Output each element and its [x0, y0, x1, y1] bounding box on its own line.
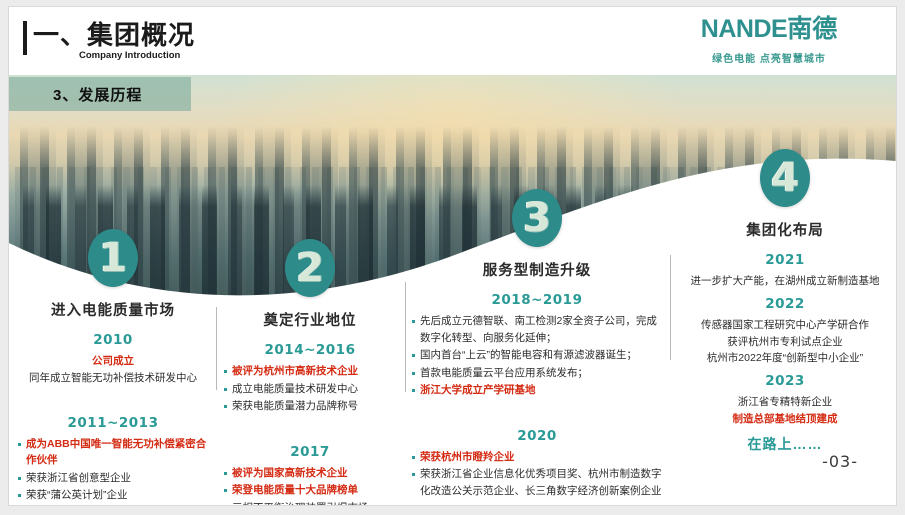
year-label: 2023: [674, 373, 896, 389]
year-label: 2010: [15, 332, 211, 348]
page-number: -03-: [822, 452, 858, 471]
list-item: 被评为国家高新技术企业: [223, 465, 397, 482]
plain-line: 传感器国家工程研究中心产学研合作: [674, 317, 896, 334]
timeline-column-1: 1 进入电能质量市场 2010 公司成立 同年成立智能无功补偿技术研发中心 20…: [15, 229, 211, 505]
year-label: 2021: [674, 252, 896, 268]
plain-line: 获评杭州市专利试点企业: [674, 334, 896, 351]
list-item: 成为ABB中国唯一智能无功补偿紧密合作伙伴: [17, 436, 209, 469]
list-item: 荣获杭州市瞪羚企业: [411, 449, 663, 466]
year-label: 2018~2019: [409, 292, 665, 308]
list-item: 浙江大学成立产学研基地: [411, 382, 663, 399]
highlight-line: 制造总部基地结顶建成: [674, 411, 896, 428]
marker-number: 4: [771, 158, 799, 198]
list-item: 国内首台“上云”的智能电容和有源滤波器诞生；: [411, 347, 663, 364]
section-banner-label: 3、发展历程: [53, 84, 142, 105]
list-item: 先后成立元德智联、南工检测2家全资子公司，完成数字化转型、向服务化延伸；: [411, 313, 663, 346]
column-heading: 进入电能质量市场: [15, 299, 211, 320]
list-item: 三相不平衡治理装置引爆市场: [223, 500, 397, 506]
timeline-column-3: 3 服务型制造升级 2018~2019 先后成立元德智联、南工检测2家全资子公司…: [409, 189, 665, 501]
column-divider-2: [405, 282, 406, 392]
plain-line: 进一步扩大产能，在湖州成立新制造基地: [674, 273, 896, 290]
title-accent-bar: [23, 21, 27, 55]
column-heading: 集团化布局: [674, 219, 896, 240]
section-banner: 3、发展历程: [9, 77, 191, 111]
list-item: 荣获“蒲公英计划”企业: [17, 487, 209, 504]
marker-number: 2: [296, 248, 324, 288]
achievement-list: 成为ABB中国唯一智能无功补偿紧密合作伙伴 荣获浙江省创意型企业 荣获“蒲公英计…: [15, 436, 211, 504]
year-label: 2011~2013: [15, 415, 211, 431]
list-item: 成立电能质量技术研发中心: [223, 381, 397, 398]
list-item: 荣获浙江省创意型企业: [17, 470, 209, 487]
list-item: 首款电能质量云平台应用系统发布；: [411, 365, 663, 382]
year-label: 2020: [409, 428, 665, 444]
achievement-list: 被评为杭州市高新技术企业 成立电能质量技术研发中心 荣获电能质量潜力品牌称号: [221, 363, 399, 415]
plain-line: 同年成立智能无功补偿技术研发中心: [15, 370, 211, 387]
list-item: 荣获电能质量潜力品牌称号: [223, 398, 397, 415]
column-heading: 奠定行业地位: [221, 309, 399, 330]
column-divider-1: [216, 307, 217, 390]
logo-latin-text: NANDE: [701, 15, 787, 43]
logo-wordmark: NANDE南德: [664, 17, 874, 42]
on-the-road-label: 在路上……: [674, 434, 896, 454]
slide-header: 一、集团概况 Company Introduction NANDE南德 绿色电能…: [9, 7, 896, 75]
list-item: 被评为杭州市高新技术企业: [223, 363, 397, 380]
timeline-marker-2: 2: [285, 239, 335, 297]
logo-tagline: 绿色电能 点亮智慧城市: [664, 50, 874, 65]
timeline-marker-3: 3: [512, 189, 562, 247]
year-label: 2017: [221, 444, 399, 460]
achievement-list: 被评为国家高新技术企业 荣登电能质量十大品牌榜单 三相不平衡治理装置引爆市场: [221, 465, 399, 506]
timeline-marker-1: 1: [88, 229, 138, 287]
column-divider-3: [670, 255, 671, 360]
plain-line: 浙江省专精特新企业: [674, 394, 896, 411]
page-subtitle: Company Introduction: [79, 50, 180, 61]
list-item: 荣登电能质量十大品牌榜单: [223, 482, 397, 499]
achievement-list: 荣获杭州市瞪羚企业 荣获浙江省企业信息化优秀项目奖、杭州市制造数字化改造公关示范…: [409, 449, 665, 500]
page-title: 一、集团概况: [33, 15, 195, 52]
column-heading: 服务型制造升级: [409, 259, 665, 280]
brand-logo: NANDE南德 绿色电能 点亮智慧城市: [664, 17, 874, 65]
marker-number: 3: [523, 198, 551, 238]
timeline-marker-4: 4: [760, 149, 810, 207]
year-label: 2022: [674, 296, 896, 312]
highlight-line: 公司成立: [15, 353, 211, 370]
timeline-column-2: 2 奠定行业地位 2014~2016 被评为杭州市高新技术企业 成立电能质量技术…: [221, 239, 399, 506]
timeline-column-4: 4 集团化布局 2021 进一步扩大产能，在湖州成立新制造基地 2022 传感器…: [674, 149, 896, 454]
year-label: 2014~2016: [221, 342, 399, 358]
slide: 一、集团概况 Company Introduction NANDE南德 绿色电能…: [8, 6, 897, 506]
logo-cjk-text: 南德: [787, 15, 837, 43]
marker-number: 1: [99, 238, 127, 278]
list-item: 荣获浙江省企业信息化优秀项目奖、杭州市制造数字化改造公关示范企业、长三角数字经济…: [411, 466, 663, 499]
achievement-list: 先后成立元德智联、南工检测2家全资子公司，完成数字化转型、向服务化延伸； 国内首…: [409, 313, 665, 399]
plain-line: 杭州市2022年度“创新型中小企业”: [674, 350, 896, 367]
